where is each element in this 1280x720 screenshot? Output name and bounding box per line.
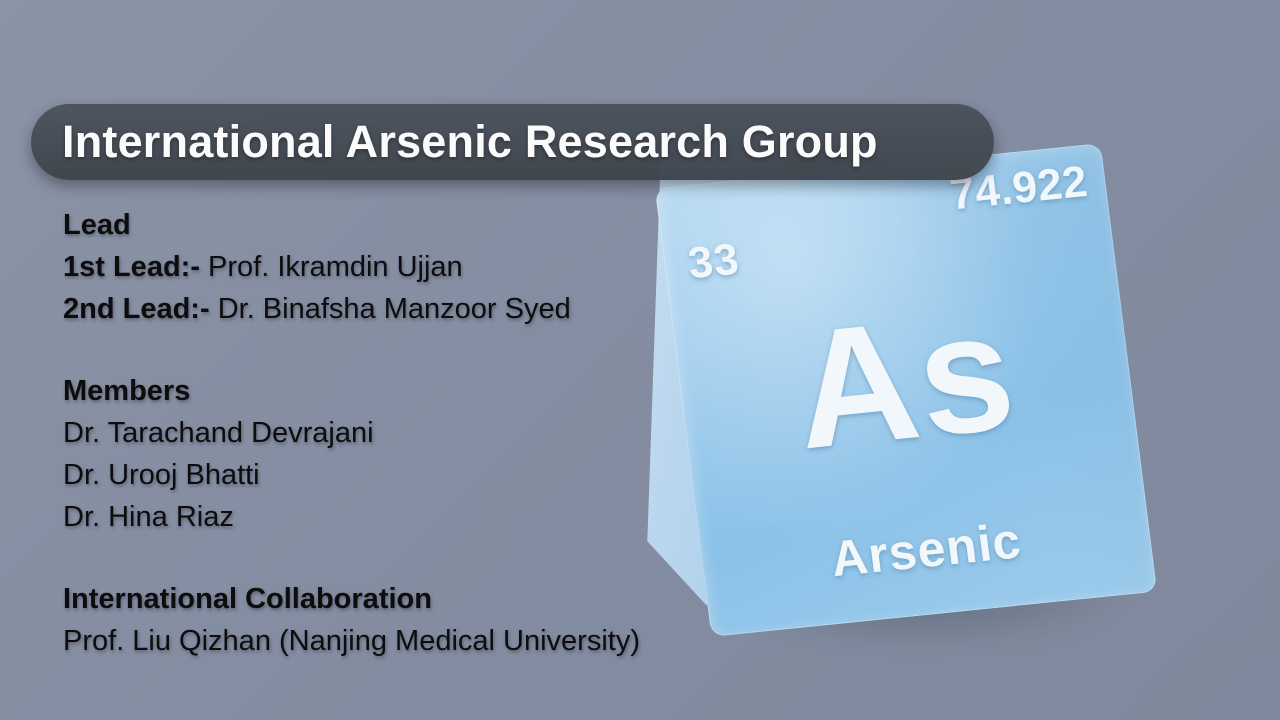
- lead-section: Lead 1st Lead:- Prof. Ikramdin Ujjan 2nd…: [63, 204, 763, 330]
- member-name-1: Dr. Tarachand Devrajani: [63, 412, 763, 454]
- member-name-2: Dr. Urooj Bhatti: [63, 454, 763, 496]
- collaborator-name-1: Prof. Liu Qizhan (Nanjing Medical Univer…: [63, 620, 763, 662]
- lead-row-second-value: Dr. Binafsha Manzoor Syed: [218, 293, 571, 325]
- element-name-label: Arsenic: [700, 498, 1153, 601]
- member-name-3: Dr. Hina Riaz: [63, 496, 763, 538]
- lead-row-first: 1st Lead:- Prof. Ikramdin Ujjan: [63, 246, 763, 288]
- page-title: International Arsenic Research Group: [62, 116, 878, 168]
- cube-drop-shadow: [706, 518, 1126, 648]
- members-section: Members Dr. Tarachand Devrajani Dr. Uroo…: [63, 370, 763, 538]
- slide-canvas: 33 74.922 As Arsenic International Arsen…: [0, 0, 1280, 720]
- collaboration-section: International Collaboration Prof. Liu Qi…: [63, 578, 763, 662]
- lead-row-second: 2nd Lead:- Dr. Binafsha Manzoor Syed: [63, 288, 763, 330]
- lead-row-first-value: Prof. Ikramdin Ujjan: [208, 251, 463, 283]
- collaboration-section-heading: International Collaboration: [63, 578, 763, 620]
- title-banner: International Arsenic Research Group: [31, 104, 994, 180]
- lead-row-first-label: 1st Lead:-: [63, 251, 200, 283]
- members-section-heading: Members: [63, 370, 763, 412]
- lead-row-second-label: 2nd Lead:-: [63, 293, 210, 325]
- lead-section-heading: Lead: [63, 204, 763, 246]
- section-spacer-one: [63, 330, 763, 370]
- section-spacer-two: [63, 538, 763, 578]
- slide-body-content: Lead 1st Lead:- Prof. Ikramdin Ujjan 2nd…: [63, 204, 763, 662]
